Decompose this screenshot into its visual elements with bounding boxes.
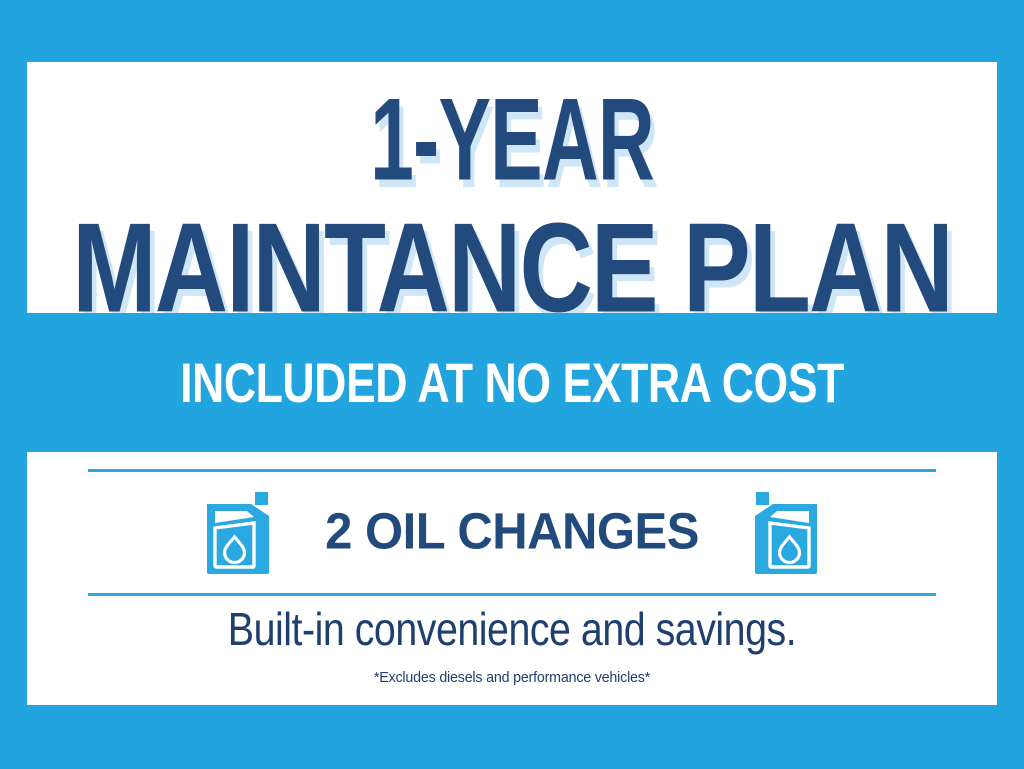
headline-group: 1-YEAR MAINTANCE PLAN bbox=[27, 62, 997, 313]
headline-line-1: 1-YEAR bbox=[114, 82, 909, 199]
feature-label: 2 OIL CHANGES bbox=[325, 507, 699, 558]
headline-card: 1-YEAR MAINTANCE PLAN bbox=[27, 62, 997, 313]
subheading-text: INCLUDED AT NO EXTRA COST bbox=[36, 357, 988, 413]
oil-jug-icon-right bbox=[747, 490, 821, 576]
details-card: 2 OIL CHANGES Built-in convenience and s… bbox=[27, 452, 997, 705]
subheading-band: INCLUDED AT NO EXTRA COST bbox=[0, 313, 1024, 452]
disclaimer-text: *Excludes diesels and performance vehicl… bbox=[51, 670, 973, 685]
tagline-text: Built-in convenience and savings. bbox=[46, 607, 977, 653]
promotional-poster: 1-YEAR MAINTANCE PLAN INCLUDED AT NO EXT… bbox=[0, 0, 1024, 769]
divider-bottom bbox=[88, 593, 936, 596]
feature-row: 2 OIL CHANGES bbox=[88, 472, 936, 593]
oil-jug-icon-left bbox=[203, 490, 277, 576]
